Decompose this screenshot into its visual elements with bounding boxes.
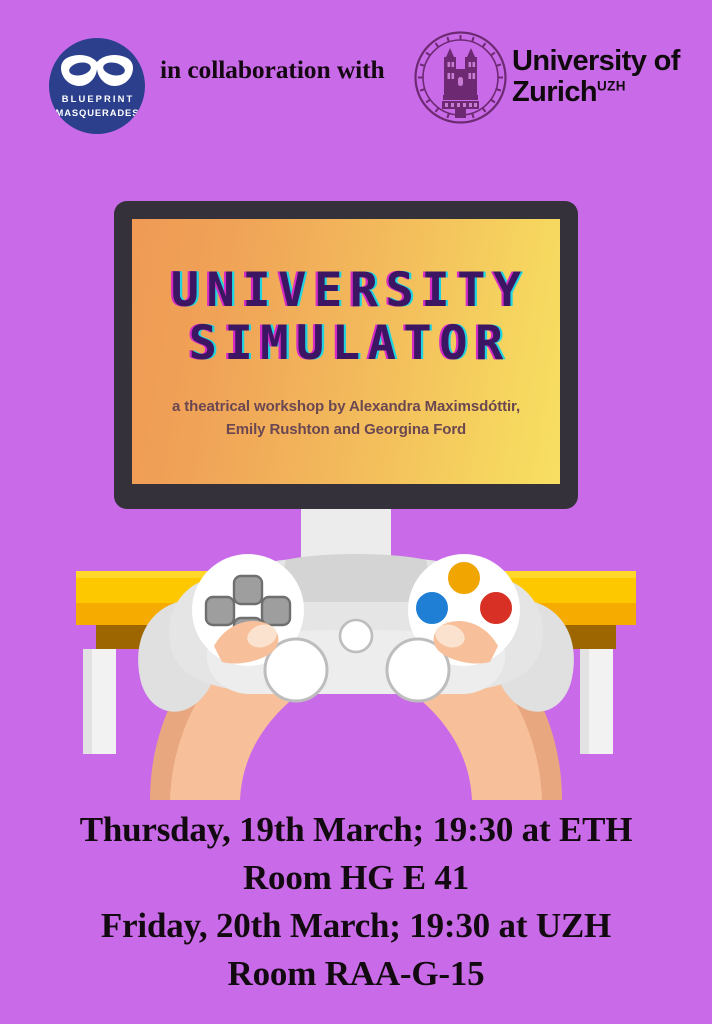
uzh-wordmark-line2: Zurich bbox=[512, 76, 597, 108]
button-yellow bbox=[447, 561, 481, 595]
game-controller bbox=[138, 554, 574, 712]
blueprint-masquerades-logo: BLUEPRINT MASQUERADES bbox=[49, 38, 145, 134]
blueprint-logo-line2: MASQUERADES bbox=[49, 108, 145, 117]
uzh-superscript: UZH bbox=[597, 78, 626, 93]
event-line-4: Room RAA-G-15 bbox=[0, 950, 712, 998]
event-dates: Thursday, 19th March; 19:30 at ETH Room … bbox=[0, 806, 712, 998]
title-block: UNIVERSITY SIMULATOR bbox=[132, 267, 560, 367]
uzh-wordmark: University of ZurichUZH bbox=[512, 46, 707, 108]
uzh-wordmark-line2-wrap: ZurichUZH bbox=[512, 77, 707, 108]
byline-line-1: a theatrical workshop by Alexandra Maxim… bbox=[132, 395, 560, 418]
monitor: UNIVERSITY SIMULATOR a theatrical worksh… bbox=[114, 201, 578, 509]
uzh-wordmark-line1: University of bbox=[512, 46, 707, 77]
title-line-1: UNIVERSITY bbox=[132, 267, 560, 314]
event-line-1: Thursday, 19th March; 19:30 at ETH bbox=[0, 806, 712, 854]
blueprint-logo-line1: BLUEPRINT bbox=[49, 94, 145, 103]
center-button bbox=[340, 620, 372, 652]
poster-header: BLUEPRINT MASQUERADES in collaboration w… bbox=[0, 0, 712, 145]
byline-line-2: Emily Rushton and Georgina Ford bbox=[132, 418, 560, 441]
byline: a theatrical workshop by Alexandra Maxim… bbox=[132, 395, 560, 442]
masquerade-mask-icon bbox=[49, 51, 145, 91]
button-red bbox=[479, 591, 513, 625]
title-line-2: SIMULATOR bbox=[132, 320, 560, 367]
collaboration-text: in collaboration with bbox=[160, 55, 405, 85]
event-line-2: Room HG E 41 bbox=[0, 854, 712, 902]
poster: BLUEPRINT MASQUERADES in collaboration w… bbox=[0, 0, 712, 1024]
button-blue bbox=[415, 591, 449, 625]
monitor-screen: UNIVERSITY SIMULATOR a theatrical worksh… bbox=[132, 219, 560, 484]
event-line-3: Friday, 20th March; 19:30 at UZH bbox=[0, 902, 712, 950]
gameplay-illustration bbox=[0, 540, 712, 800]
uzh-seal-icon bbox=[414, 31, 507, 124]
